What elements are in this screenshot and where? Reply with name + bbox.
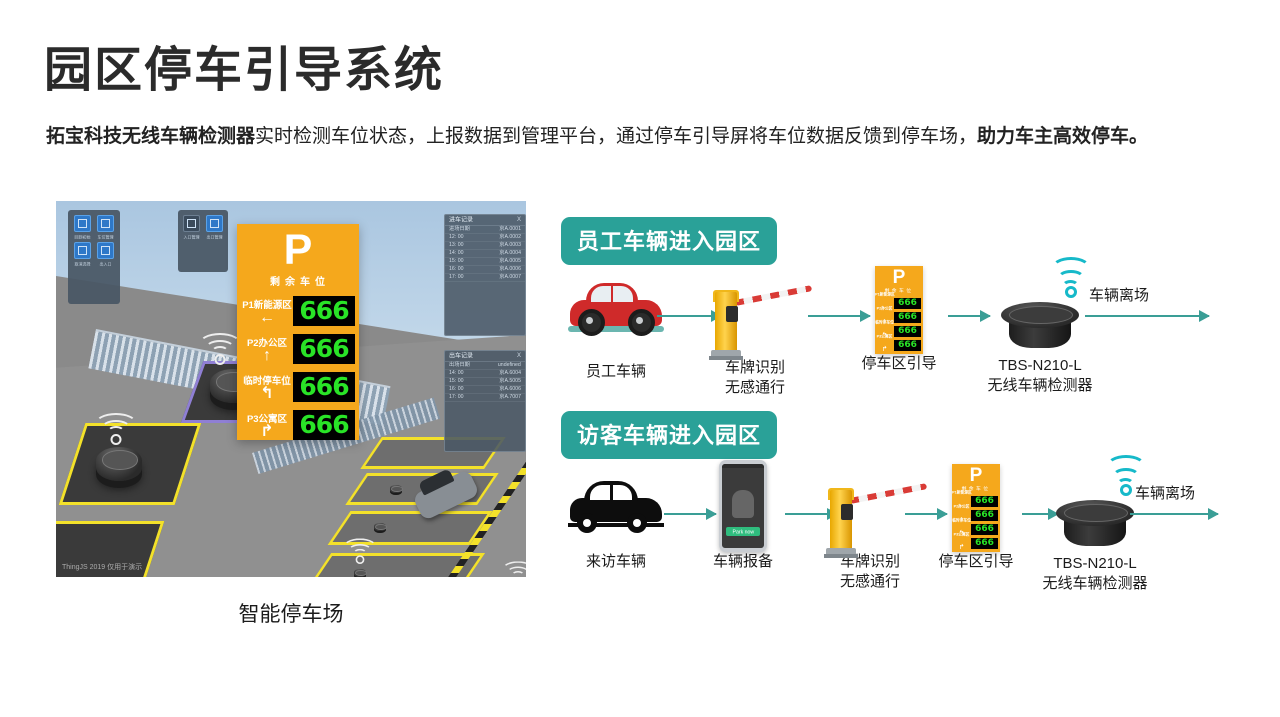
sign-zone-row: 临时停车位 ↰ 666 [237, 368, 359, 406]
sign-zone-row: P3公寓区 ↱ 666 [237, 406, 359, 444]
mini-sign-row: P3公寓区 ↱ 666 [952, 536, 1000, 550]
vehicle-detector-puck[interactable] [96, 447, 142, 481]
record-key: 17: 00 [449, 394, 464, 401]
scene-tool-panel[interactable]: 回到初始 车位管理 取消选择 出入口 [68, 210, 120, 304]
subtitle-bold-lead: 拓宝科技无线车辆检测器 [46, 126, 255, 147]
mini-zone-label: P2办公区 [875, 306, 894, 311]
scene-tool-label: 车位管理 [92, 233, 118, 239]
mini-count: 666 [971, 496, 998, 507]
record-value: 京A.0005 [499, 258, 521, 265]
subtitle-bold-tail: 助力车主高效停车。 [977, 126, 1148, 147]
mini-zone-label: 临时停车位 [875, 320, 894, 325]
table-row: 出场日期 undefined [445, 362, 525, 370]
flow-badge-visitor: 访客车辆进入园区 [561, 411, 777, 459]
scene-tool-home[interactable]: 回到初始 [72, 215, 93, 239]
flow-node-label-line1: 车牌识别 [705, 358, 805, 378]
wifi-signal-icon [502, 563, 527, 577]
gate-icon [97, 242, 114, 259]
record-value: 京A.0002 [499, 234, 521, 241]
sign-zone-row: P1新能源区 ← 666 [237, 292, 359, 330]
record-value: 京A.0007 [499, 274, 521, 281]
flow-node-vehicle-report: Park now 车辆报备 [700, 472, 786, 572]
exit-label-2: 车辆离场 [1135, 482, 1195, 503]
entry-records-header: 进车记录 X [445, 215, 525, 226]
wifi-signal-icon [342, 540, 377, 564]
black-car-icon [566, 472, 666, 534]
clipboard-icon [97, 215, 114, 232]
sign-count-display: 666 [293, 334, 355, 364]
entry-records-panel[interactable]: 进车记录 X 进场日期 京A.0001 12: 00 京A.0002 13: 0… [444, 214, 526, 336]
flow-node-employee-car: 员工车辆 [566, 276, 666, 382]
record-value: 京A.5005 [499, 378, 521, 385]
flow-node-guidance-2: P 剩余车位 P1新能源区 ← 666 P2办公区 ↑ 666 临时停车位 ↰ … [928, 466, 1024, 572]
record-key: 13: 00 [449, 242, 464, 249]
mini-count: 666 [971, 510, 998, 521]
flow-node-label: 停车区引导 [928, 552, 1024, 572]
mini-count: 666 [894, 298, 921, 309]
mobile-phone-icon: Park now [719, 460, 767, 552]
flow-node-label-line2: 无线车辆检测器 [985, 376, 1095, 396]
record-key: 17: 00 [449, 274, 464, 281]
flow-node-label: 员工车辆 [566, 362, 666, 382]
flow-node-label-line2: 无感通行 [705, 378, 805, 398]
barrier-gate-icon [820, 470, 894, 556]
wifi-signal-icon [1100, 464, 1140, 494]
vehicle-detector-puck[interactable] [374, 523, 386, 531]
scene-caption: 智能停车场 [56, 598, 526, 628]
flow-node-detector-1: TBS-N210-L 无线车辆检测器 [985, 284, 1095, 397]
flow-arrow [948, 315, 990, 317]
vehicle-detector-puck[interactable] [354, 569, 366, 577]
table-row: 14: 00 京A.0004 [445, 250, 525, 258]
table-row: 16: 00 京A.6006 [445, 386, 525, 394]
exit-gate-icon [206, 215, 223, 232]
mini-zone-label: P2办公区 [952, 504, 971, 509]
mini-count: 666 [894, 326, 921, 337]
page-title: 园区停车引导系统 [44, 45, 444, 98]
mini-sign-p: P [952, 466, 1000, 486]
sign-arrow-icon: ↱ [241, 425, 293, 439]
entry-gate-icon [183, 215, 200, 232]
mini-arrow-icon: ↱ [882, 346, 888, 353]
entry-records-title: 进车记录 [449, 216, 473, 225]
record-key: 14: 00 [449, 250, 464, 257]
record-value: 京A.6006 [499, 386, 521, 393]
subtitle-normal: 实时检测车位状态，上报数据到管理平台，通过停车引导屏将车位数据反馈到停车场， [255, 126, 977, 147]
scene-gate-exit[interactable]: 出口管理 [204, 215, 225, 239]
flow-node-label-line2: 无线车辆检测器 [1040, 574, 1150, 594]
phone-park-now-button[interactable]: Park now [726, 527, 760, 536]
record-key: 16: 00 [449, 266, 464, 273]
flow-arrow-exit [1085, 315, 1209, 317]
guidance-sign-icon: P 剩余车位 P1新能源区 ← 666 P2办公区 ↑ 666 临时停车位 ↰ … [952, 464, 1000, 552]
close-icon[interactable]: X [517, 353, 521, 359]
record-value: 京A.0004 [499, 250, 521, 257]
record-value: 京A.6004 [499, 370, 521, 377]
wifi-signal-icon [94, 415, 138, 445]
record-key: 12: 00 [449, 234, 464, 241]
mini-zone-label: P3公寓区 [952, 532, 971, 537]
record-value: undefined [498, 362, 521, 369]
page-subtitle: 拓宝科技无线车辆检测器实时检测车位状态，上报数据到管理平台，通过停车引导屏将车位… [46, 120, 1216, 153]
barrier-gate-icon [705, 272, 779, 358]
exit-records-panel[interactable]: 出车记录 X 出场日期 undefined 14: 00 京A.6004 15:… [444, 350, 526, 452]
exit-records-header: 出车记录 X [445, 351, 525, 362]
sign-count-display: 666 [293, 296, 355, 326]
flow-node-visitor-car: 来访车辆 [566, 472, 666, 572]
home-icon [74, 215, 91, 232]
scene-watermark: ThingJS 2019 仅用于演示 [62, 562, 142, 572]
table-row: 16: 00 京A.0006 [445, 266, 525, 274]
scene-tool-spaces[interactable]: 车位管理 [95, 215, 116, 239]
sign-header-text: 剩余车位 [241, 273, 359, 288]
record-value: 京A.7007 [499, 394, 521, 401]
mini-count: 666 [971, 538, 998, 549]
table-row: 14: 00 京A.6004 [445, 370, 525, 378]
sign-zone-row: P2办公区 ↑ 666 [237, 330, 359, 368]
scene-tool-label: 出入口 [92, 260, 118, 266]
red-car-icon [566, 276, 666, 338]
flow-node-model-name: TBS-N210-L [985, 356, 1095, 376]
record-value: 京A.0003 [499, 242, 521, 249]
exit-records-title: 出车记录 [449, 352, 473, 361]
mini-count: 666 [894, 340, 921, 351]
sign-count-display: 666 [293, 372, 355, 402]
phone-button-label: Park now [732, 526, 754, 538]
table-row: 进场日期 京A.0001 [445, 226, 525, 234]
flow-node-label-line2: 无感通行 [820, 572, 920, 592]
mini-zone-label: P1新能源区 [875, 292, 894, 297]
flow-node-detector-2: TBS-N210-L 无线车辆检测器 [1040, 482, 1150, 595]
record-value: 京A.0001 [499, 226, 521, 233]
flow-node-label: 来访车辆 [566, 552, 666, 572]
sign-arrow-icon: ↑ [241, 349, 293, 363]
exit-label-1: 车辆离场 [1089, 284, 1149, 305]
hand-icon [74, 242, 91, 259]
table-row: 17: 00 京A.0007 [445, 274, 525, 282]
flow-node-guidance-1: P 剩余车位 P1新能源区 ← 666 P2办公区 ↑ 666 临时停车位 ↰ … [851, 268, 947, 374]
wifi-signal-icon [198, 335, 242, 365]
flow-node-model-name: TBS-N210-L [1040, 554, 1150, 574]
close-icon[interactable]: X [517, 217, 521, 223]
scene-gate-entry[interactable]: 入口管理 [181, 215, 202, 239]
mini-zone-label: P3公寓区 [875, 334, 894, 339]
flow-node-label: 车辆报备 [700, 552, 786, 572]
vehicle-detector-puck[interactable] [390, 485, 402, 493]
mini-zone-label: P1新能源区 [952, 490, 971, 495]
record-key: 15: 00 [449, 378, 464, 385]
flow-arrow-exit [1130, 513, 1218, 515]
guidance-sign-icon: P 剩余车位 P1新能源区 ← 666 P2办公区 ↑ 666 临时停车位 ↰ … [875, 266, 923, 354]
sign-arrow-icon: ↰ [241, 387, 293, 401]
record-key: 16: 00 [449, 386, 464, 393]
parking-guidance-sign: P 剩余车位 P1新能源区 ← 666 P2办公区 ↑ 666 临时停车位 ↰ … [237, 224, 359, 440]
table-row: 15: 00 京A.5005 [445, 378, 525, 386]
table-row: 17: 00 京A.7007 [445, 394, 525, 402]
mini-arrow-icon: ↱ [959, 544, 965, 551]
record-key: 进场日期 [449, 226, 470, 233]
mini-zone-label: 临时停车位 [952, 518, 971, 523]
record-key: 出场日期 [449, 362, 470, 369]
sign-arrow-icon: ← [241, 311, 293, 325]
sign-count-display: 666 [293, 410, 355, 440]
record-value: 京A.0006 [499, 266, 521, 273]
table-row: 13: 00 京A.0003 [445, 242, 525, 250]
table-row: 15: 00 京A.0005 [445, 258, 525, 266]
flow-node-label: 停车区引导 [851, 354, 947, 374]
record-key: 14: 00 [449, 370, 464, 377]
flow-node-plate-recognition-2: 车牌识别 无感通行 [820, 470, 920, 593]
wireless-detector-icon [1001, 296, 1079, 356]
mini-count: 666 [971, 524, 998, 535]
scene-tool-gates[interactable]: 出入口 [95, 242, 116, 266]
wireless-detector-icon [1056, 494, 1134, 554]
scene-gate-panel[interactable]: 入口管理 出口管理 [178, 210, 228, 272]
table-row: 12: 00 京A.0002 [445, 234, 525, 242]
mini-sign-p: P [875, 268, 923, 288]
scene-gate-label: 出口管理 [201, 233, 227, 239]
parking-lot-3d-scene[interactable]: 回到初始 车位管理 取消选择 出入口 入口管理 出 [56, 201, 526, 577]
flow-node-plate-recognition-1: 车牌识别 无感通行 [705, 272, 805, 399]
flow-badge-employee: 员工车辆进入园区 [561, 217, 777, 265]
record-key: 15: 00 [449, 258, 464, 265]
sign-p-letter: P [237, 229, 359, 271]
mini-count: 666 [894, 312, 921, 323]
scene-tool-deselect[interactable]: 取消选择 [72, 242, 93, 266]
wifi-signal-icon [1045, 266, 1085, 296]
mini-sign-row: P3公寓区 ↱ 666 [875, 338, 923, 352]
